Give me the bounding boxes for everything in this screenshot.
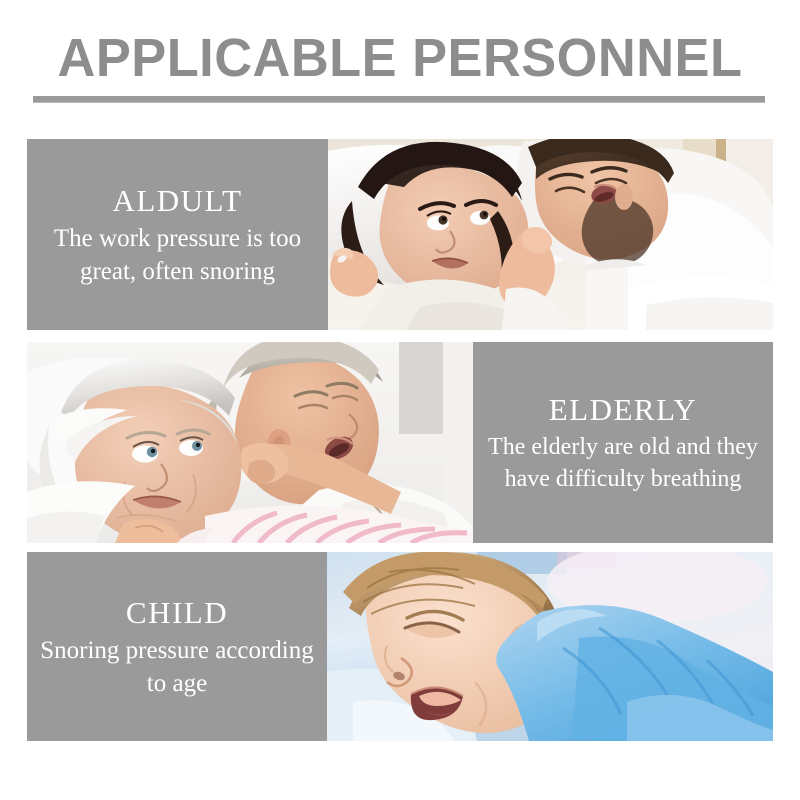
panel-elderly-heading: ELDERLY: [549, 391, 698, 429]
photo-young-couple-in-bed: [328, 139, 773, 330]
page-title: APPLICABLE PERSONNEL: [12, 28, 788, 88]
panel-adult-photo: [328, 139, 773, 330]
panel-adult-heading: ALDULT: [112, 182, 242, 220]
panel-adult-text-block: ALDULT The work pressure is too great, o…: [27, 139, 328, 330]
photo-child-sleeping: [327, 552, 773, 741]
panel-elderly-description: The elderly are old and they have diffic…: [479, 431, 767, 495]
panel-elderly-text-block: ELDERLY The elderly are old and they hav…: [473, 342, 773, 543]
photo-elderly-couple-in-bed: [27, 342, 473, 543]
panel-elderly-photo: [27, 342, 473, 543]
panel-elderly: ELDERLY The elderly are old and they hav…: [27, 342, 773, 543]
panel-child-description: Snoring pressure according to age: [33, 634, 321, 700]
panel-adult: ALDULT The work pressure is too great, o…: [27, 139, 773, 330]
title-underline-bar: [33, 96, 765, 103]
panel-child: CHILD Snoring pressure according to age: [27, 552, 773, 741]
panel-child-text-block: CHILD Snoring pressure according to age: [27, 552, 327, 741]
panel-adult-description: The work pressure is too great, often sn…: [33, 222, 322, 288]
panel-child-heading: CHILD: [126, 594, 228, 632]
panel-child-photo: [327, 552, 773, 741]
page-header: APPLICABLE PERSONNEL: [0, 28, 800, 88]
